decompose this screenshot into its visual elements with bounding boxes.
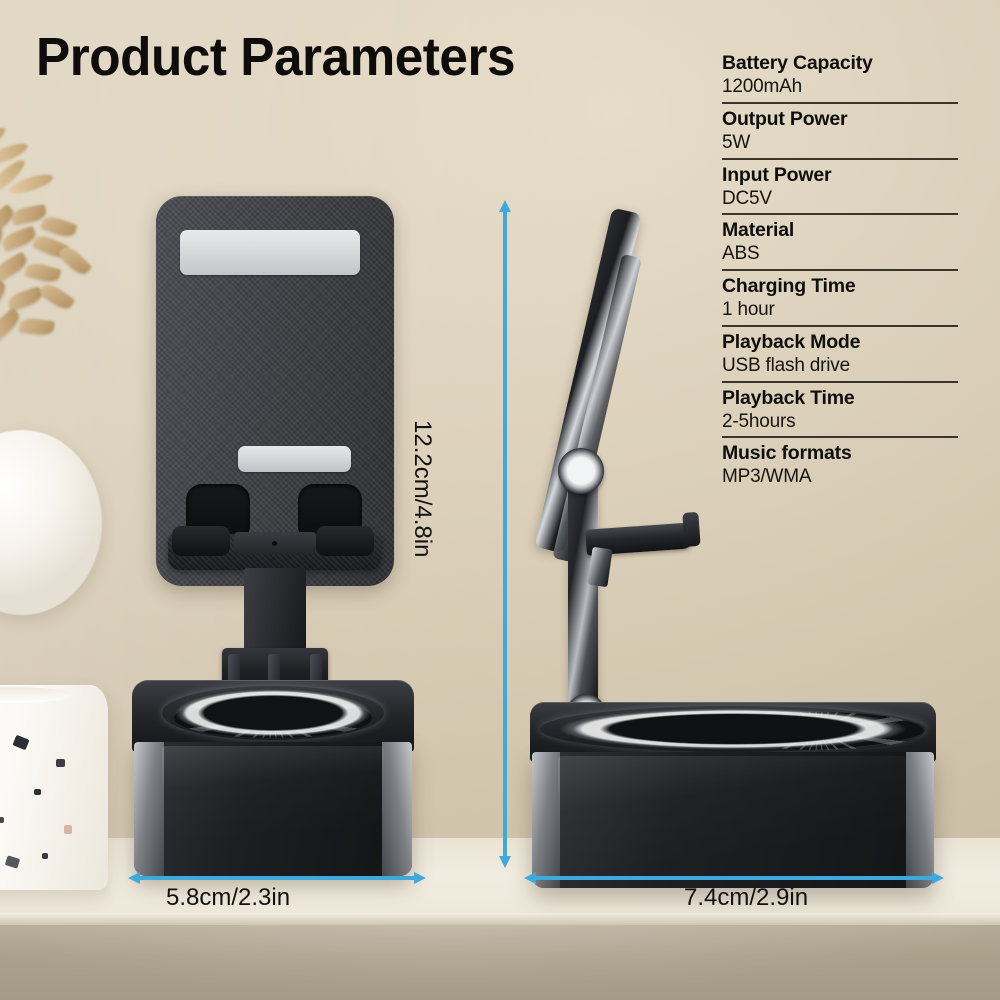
spec-label: Playback Time bbox=[722, 387, 958, 410]
side-width-measure-arrow bbox=[524, 872, 944, 884]
phone-hook-left bbox=[172, 526, 230, 556]
pine-cone-decoration bbox=[0, 205, 100, 355]
height-measure-arrow bbox=[499, 200, 511, 868]
spec-label: Battery Capacity bbox=[722, 52, 958, 75]
terrazzo-vase bbox=[0, 685, 108, 890]
measure-line-front-width bbox=[138, 876, 416, 880]
spec-value: ABS bbox=[722, 242, 958, 266]
speaker-base-front bbox=[128, 680, 418, 880]
spec-row: Battery Capacity 1200mAh bbox=[722, 52, 958, 102]
page-title: Product Parameters bbox=[36, 26, 515, 88]
spec-label: Input Power bbox=[722, 164, 958, 187]
spec-value: DC5V bbox=[722, 187, 958, 211]
spec-value: USB flash drive bbox=[722, 354, 958, 378]
base-chrome-ring-front bbox=[162, 686, 384, 740]
spec-row: Charging Time 1 hour bbox=[722, 269, 958, 325]
panel-pad-top bbox=[180, 230, 360, 275]
height-measure-label: 12.2cm/4.8in bbox=[408, 420, 436, 557]
spec-label: Charging Time bbox=[722, 275, 958, 298]
phone-hook-right bbox=[316, 526, 374, 556]
spec-label: Material bbox=[722, 219, 958, 242]
speaker-base-side bbox=[524, 702, 942, 894]
stand-arm-side bbox=[568, 478, 598, 710]
vase-rim bbox=[0, 687, 72, 703]
product-front-view bbox=[128, 196, 418, 886]
measure-line-side-width bbox=[534, 876, 934, 880]
spec-value: 1 hour bbox=[722, 298, 958, 322]
side-width-measure-label: 7.4cm/2.9in bbox=[684, 884, 808, 912]
spec-value: 5W bbox=[722, 131, 958, 155]
spec-value: MP3/WMA bbox=[722, 465, 958, 489]
spec-row: Music formats MP3/WMA bbox=[722, 436, 958, 492]
spec-value: 1200mAh bbox=[722, 75, 958, 99]
spec-list: Battery Capacity 1200mAh Output Power 5W… bbox=[722, 52, 958, 492]
arrow-head-down-icon bbox=[499, 856, 511, 868]
front-width-measure-arrow bbox=[128, 872, 426, 884]
base-chrome-ring-side bbox=[540, 706, 926, 752]
stand-foot-stem bbox=[587, 547, 612, 587]
spec-row: Playback Time 2-5hours bbox=[722, 381, 958, 437]
product-infographic: Product Parameters bbox=[0, 0, 1000, 1000]
stand-neck bbox=[244, 568, 306, 654]
arrow-head-right-icon bbox=[414, 872, 426, 884]
spec-label: Output Power bbox=[722, 108, 958, 131]
spec-label: Music formats bbox=[722, 442, 958, 465]
panel-pad-middle bbox=[238, 446, 351, 472]
center-clip bbox=[234, 532, 316, 554]
spec-row: Material ABS bbox=[722, 213, 958, 269]
table-front-face bbox=[0, 925, 1000, 1000]
front-width-measure-label: 5.8cm/2.3in bbox=[166, 884, 290, 912]
measure-line-vertical bbox=[503, 210, 507, 858]
base-sheen-side bbox=[558, 756, 906, 884]
spec-value: 2-5hours bbox=[722, 410, 958, 434]
base-sheen-front bbox=[162, 746, 384, 872]
spec-row: Playback Mode USB flash drive bbox=[722, 325, 958, 381]
arrow-head-right-icon-2 bbox=[932, 872, 944, 884]
spec-row: Input Power DC5V bbox=[722, 158, 958, 214]
spec-label: Playback Mode bbox=[722, 331, 958, 354]
stand-hinge-joint-upper bbox=[558, 448, 604, 494]
spec-row: Output Power 5W bbox=[722, 102, 958, 158]
